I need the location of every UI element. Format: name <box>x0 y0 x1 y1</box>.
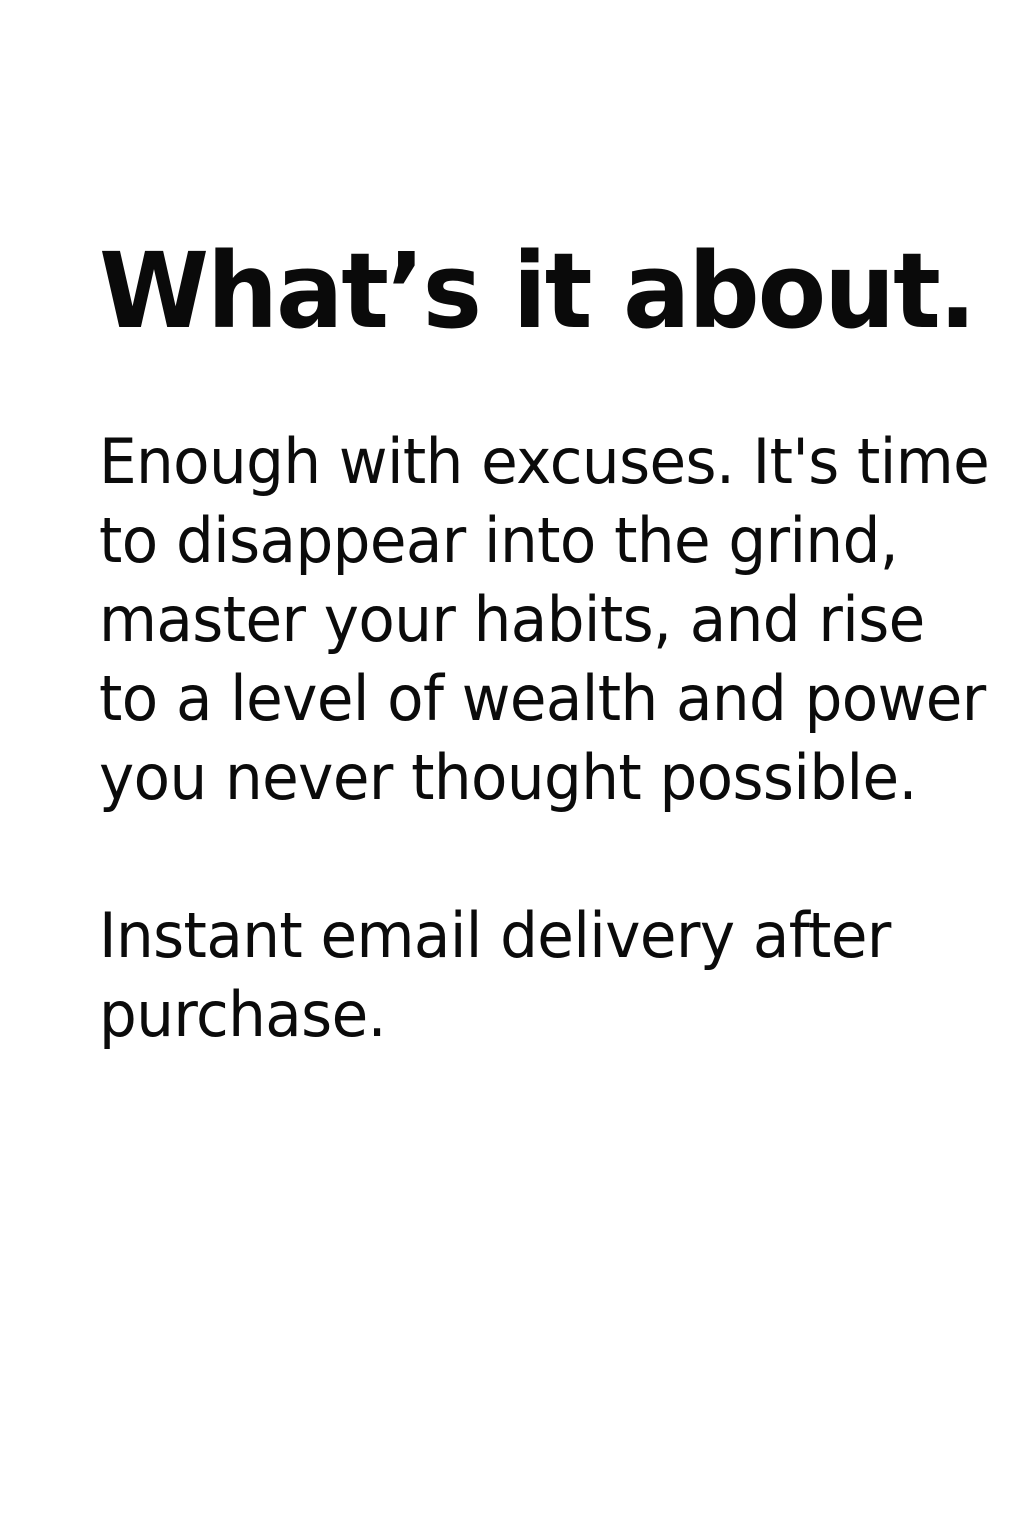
paragraph-line: you never thought possible. <box>99 738 925 817</box>
paragraph-line: Instant email delivery after <box>99 896 925 975</box>
content-column: What’s it about. Enough with excuses. It… <box>99 236 959 1054</box>
body-copy: Enough with excuses. It's time to disapp… <box>99 422 959 1054</box>
paragraph-delivery: Instant email delivery after purchase. <box>99 896 925 1054</box>
page-root: What’s it about. Enough with excuses. It… <box>0 0 1024 1536</box>
paragraph-spacer <box>99 817 959 896</box>
paragraph-pitch: Enough with excuses. It's time to disapp… <box>99 422 925 817</box>
paragraph-line: master your habits, and rise <box>99 580 925 659</box>
paragraph-line: to a level of wealth and power <box>99 659 925 738</box>
paragraph-line: to disappear into the grind, <box>99 501 925 580</box>
page-title: What’s it about. <box>99 236 925 346</box>
paragraph-line: purchase. <box>99 975 925 1054</box>
paragraph-line: Enough with excuses. It's time <box>99 422 925 501</box>
